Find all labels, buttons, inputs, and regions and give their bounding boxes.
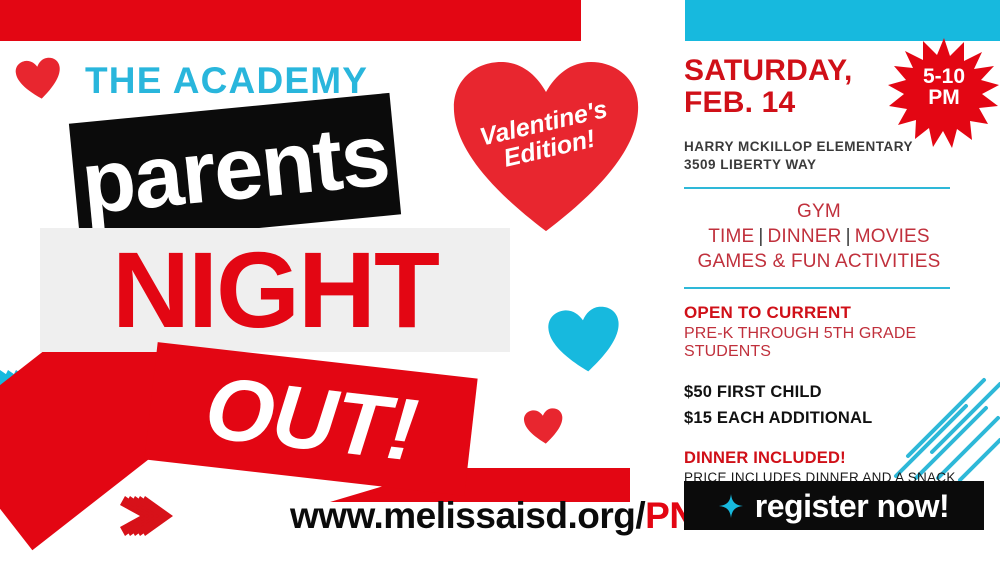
top-cyan-bar bbox=[685, 0, 1000, 41]
divider-top bbox=[684, 187, 950, 189]
activities-list: GYM TIME|DINNER|MOVIES GAMES & FUN ACTIV… bbox=[684, 199, 954, 274]
parents-wordmark-text: parents bbox=[69, 93, 401, 245]
event-date-line2: FEB. 14 bbox=[684, 87, 984, 119]
dinner-heading: DINNER INCLUDED! bbox=[684, 449, 984, 468]
activities-line2: GAMES & FUN ACTIVITIES bbox=[684, 249, 954, 274]
venue-address: 3509 LIBERTY WAY bbox=[684, 156, 984, 174]
activity-movies: MOVIES bbox=[855, 226, 930, 247]
flyer-poster: THE ACADEMY parents NIGHT OUT! Valentine… bbox=[0, 0, 1000, 564]
venue-name: HARRY MCKILLOP ELEMENTARY bbox=[684, 138, 984, 156]
event-venue: HARRY MCKILLOP ELEMENTARY 3509 LIBERTY W… bbox=[684, 138, 984, 174]
website-url-main: www.melissaisd.org/ bbox=[290, 495, 645, 536]
details-panel: SATURDAY, FEB. 14 HARRY MCKILLOP ELEMENT… bbox=[684, 55, 984, 485]
activities-separator: | bbox=[754, 226, 767, 247]
valentines-edition-badge: Valentine's Edition! bbox=[452, 60, 640, 235]
sparkle-icon bbox=[719, 494, 743, 518]
divider-bottom bbox=[684, 287, 950, 289]
website-url[interactable]: www.melissaisd.org/PNO bbox=[290, 495, 724, 537]
register-now-button[interactable]: register now! bbox=[684, 481, 984, 530]
activities-separator: | bbox=[842, 226, 855, 247]
heart-icon-red-small bbox=[522, 406, 566, 447]
event-date: SATURDAY, FEB. 14 bbox=[684, 55, 984, 119]
activities-line1: GYM TIME|DINNER|MOVIES bbox=[684, 199, 954, 249]
pricing-info: $50 FIRST CHILD $15 EACH ADDITIONAL bbox=[684, 380, 984, 431]
activity-dinner: DINNER bbox=[768, 226, 842, 247]
event-date-line1: SATURDAY, bbox=[684, 55, 984, 87]
out-wordmark-text: OUT! bbox=[144, 342, 477, 496]
out-red-band: OUT! bbox=[144, 342, 477, 496]
top-red-bar bbox=[0, 0, 581, 41]
price-each-additional: $15 EACH ADDITIONAL bbox=[684, 406, 984, 432]
night-wordmark-text: NIGHT bbox=[40, 228, 510, 352]
price-first-child: $50 FIRST CHILD bbox=[684, 380, 984, 406]
heart-icon-cyan-center bbox=[545, 303, 625, 376]
heart-icon-top-left bbox=[13, 55, 64, 103]
eligibility-subtext: PRE-K THROUGH 5TH GRADE STUDENTS bbox=[684, 325, 984, 361]
parents-wordmark-box: parents bbox=[69, 93, 401, 245]
eyebrow-the-academy: THE ACADEMY bbox=[85, 60, 368, 102]
register-now-label: register now! bbox=[755, 490, 949, 522]
eligibility-heading: OPEN TO CURRENT bbox=[684, 303, 984, 323]
